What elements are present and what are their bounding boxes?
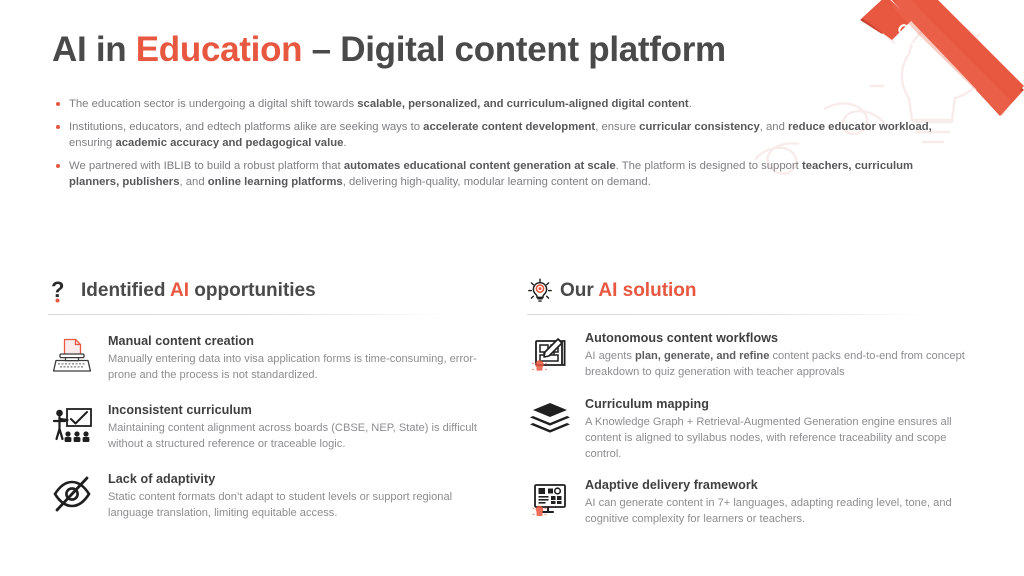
- feature-item-title: Curriculum mapping: [585, 397, 967, 411]
- intro-1-run-4: , and: [760, 121, 788, 133]
- feature-item-body: Manual content creationManually entering…: [108, 333, 488, 383]
- bullet-dot-icon: [56, 125, 60, 129]
- page-title: AI in Education – Digital content platfo…: [52, 30, 726, 70]
- dashboard-monitor-icon: [527, 477, 573, 528]
- intro-0-run-0: The education sector is undergoing a dig…: [69, 98, 357, 110]
- feature-item-title: Adaptive delivery framework: [585, 478, 967, 492]
- slide: Case study AI in Education – Digital con…: [0, 0, 1024, 576]
- feature-item-description: Static content formats don’t adapt to st…: [108, 489, 488, 521]
- intro-1-run-0: Institutions, educators, and edtech plat…: [69, 121, 423, 133]
- intro-0-run-2: .: [689, 98, 692, 110]
- intro-1-run-2: , ensure: [595, 121, 639, 133]
- feature-1-2-run-0: AI can generate content in 7+ languages,…: [585, 497, 952, 525]
- question-mark-icon: ?: [48, 277, 74, 305]
- feature-item: Adaptive delivery frameworkAI can genera…: [527, 477, 967, 528]
- intro-bullet: The education sector is undergoing a dig…: [52, 96, 957, 113]
- feature-item-description: AI can generate content in 7+ languages,…: [585, 495, 967, 527]
- feature-item: Autonomous content workflowsAI agents pl…: [527, 330, 967, 381]
- book-stack-icon: [527, 396, 573, 447]
- feature-item-body: Lack of adaptivityStatic content formats…: [108, 471, 488, 521]
- feature-item-description: A Knowledge Graph + Retrieval-Augmented …: [585, 414, 967, 462]
- intro-1-run-6: ensuring: [69, 137, 115, 149]
- column-title-plain-1: Identified: [81, 280, 170, 301]
- feature-item-body: Autonomous content workflowsAI agents pl…: [585, 330, 967, 380]
- eye-off-icon: [48, 471, 96, 522]
- bullet-dot-icon: [56, 102, 60, 106]
- column-title-plain-1: Our: [560, 280, 598, 301]
- intro-2-run-5: online learning platforms: [208, 176, 343, 188]
- intro-1-run-1: accelerate content development: [423, 121, 595, 133]
- lightbulb-icon: [527, 277, 553, 305]
- feature-item-body: Inconsistent curriculumMaintaining conte…: [108, 402, 488, 452]
- feature-item: Manual content creationManually entering…: [48, 333, 488, 384]
- intro-bullet: Institutions, educators, and edtech plat…: [52, 119, 957, 152]
- feature-0-1-run-0: Maintaining content alignment across boa…: [108, 422, 477, 450]
- feature-0-2-run-0: Static content formats don’t adapt to st…: [108, 491, 452, 519]
- feature-item-title: Manual content creation: [108, 334, 488, 348]
- feature-item: Inconsistent curriculumMaintaining conte…: [48, 402, 488, 453]
- column-header: ?Identified AI opportunities: [48, 276, 488, 306]
- feature-item-description: Manually entering data into visa applica…: [108, 351, 488, 383]
- column-identified-opportunities: ?Identified AI opportunitiesManual conte…: [48, 276, 488, 522]
- feature-item: Curriculum mappingA Knowledge Graph + Re…: [527, 396, 967, 462]
- feature-1-0-run-0: AI agents: [585, 350, 635, 362]
- intro-bullet-text: The education sector is undergoing a dig…: [69, 96, 692, 113]
- svg-text:?: ?: [51, 278, 64, 302]
- column-header: Our AI solution: [527, 276, 967, 306]
- feature-item-description: Maintaining content alignment across boa…: [108, 420, 488, 452]
- feature-item-description: AI agents plan, generate, and refine con…: [585, 348, 967, 380]
- intro-1-run-5: reduce educator workload,: [788, 121, 932, 133]
- title-part-1: AI in: [52, 30, 136, 69]
- feature-1-0-run-1: plan, generate, and refine: [635, 350, 769, 362]
- column-title-accent: AI solution: [598, 280, 696, 301]
- title-part-2: – Digital content platform: [302, 30, 726, 69]
- typewriter-icon: [48, 333, 96, 384]
- intro-2-run-0: We partnered with IBLIB to build a robus…: [69, 160, 344, 172]
- intro-2-run-6: , delivering high-quality, modular learn…: [343, 176, 651, 188]
- column-title-accent: AI: [170, 280, 189, 301]
- column-title: Our AI solution: [560, 280, 697, 302]
- feature-item-title: Inconsistent curriculum: [108, 403, 488, 417]
- intro-2-run-4: , and: [180, 176, 208, 188]
- feature-item-body: Curriculum mappingA Knowledge Graph + Re…: [585, 396, 967, 462]
- intro-bullet: We partnered with IBLIB to build a robus…: [52, 158, 957, 191]
- feature-1-1-run-0: A Knowledge Graph + Retrieval-Augmented …: [585, 416, 952, 460]
- blueprint-icon: [527, 330, 573, 381]
- column-title-plain-2: opportunities: [189, 280, 316, 301]
- feature-item-title: Lack of adaptivity: [108, 472, 488, 486]
- intro-1-run-7: academic accuracy and pedagogical value: [115, 137, 343, 149]
- intro-1-run-3: curricular consistency: [639, 121, 760, 133]
- column-our-ai-solution: Our AI solutionAutonomous content workfl…: [527, 276, 967, 528]
- feature-item-body: Adaptive delivery frameworkAI can genera…: [585, 477, 967, 527]
- bullet-dot-icon: [56, 164, 60, 168]
- column-title: Identified AI opportunities: [81, 280, 316, 302]
- intro-bullet-list: The education sector is undergoing a dig…: [52, 96, 957, 197]
- feature-item: Lack of adaptivityStatic content formats…: [48, 471, 488, 522]
- column-divider: [48, 314, 448, 315]
- title-accent: Education: [136, 30, 302, 69]
- ribbon-label: Case study: [893, 20, 966, 91]
- intro-bullet-text: We partnered with IBLIB to build a robus…: [69, 158, 957, 191]
- intro-bullet-text: Institutions, educators, and edtech plat…: [69, 119, 957, 152]
- intro-2-run-2: . The platform is designed to support: [616, 160, 802, 172]
- intro-2-run-1: automates educational content generation…: [344, 160, 616, 172]
- intro-1-run-8: .: [343, 137, 346, 149]
- intro-0-run-1: scalable, personalized, and curriculum-a…: [357, 98, 688, 110]
- teacher-whiteboard-icon: [48, 402, 96, 453]
- feature-0-0-run-0: Manually entering data into visa applica…: [108, 353, 477, 381]
- column-divider: [527, 314, 927, 315]
- feature-item-title: Autonomous content workflows: [585, 331, 967, 345]
